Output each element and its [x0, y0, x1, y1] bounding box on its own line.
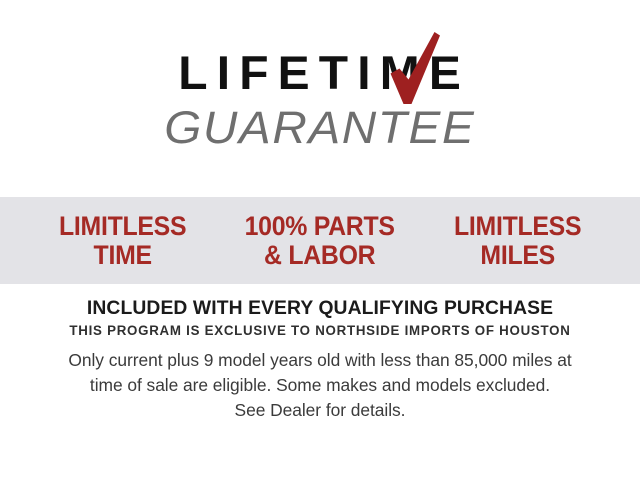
logo-guarantee-wrap: GUARANTEE — [0, 104, 640, 152]
headline-block: INCLUDED WITH EVERY QUALIFYING PURCHASE … — [0, 297, 640, 340]
lifetime-guarantee-ad: LIFETIME GUARANTEE LIMITLESS TIME 100% P… — [0, 0, 640, 480]
fineprint-line-3: See Dealer for details. — [26, 398, 614, 423]
logo-block: LIFETIME GUARANTEE — [0, 48, 640, 158]
benefit-line-2: & LABOR — [229, 241, 411, 270]
fineprint-line-2: time of sale are eligible. Some makes an… — [26, 373, 614, 398]
logo-guarantee-text: GUARANTEE — [164, 104, 475, 152]
logo-lifetime-wrap: LIFETIME — [0, 48, 640, 98]
headline-main: INCLUDED WITH EVERY QUALIFYING PURCHASE — [3, 297, 637, 320]
fineprint-line-1: Only current plus 9 model years old with… — [26, 348, 614, 373]
benefit-line-2: MILES — [427, 241, 609, 270]
benefit-line-1: LIMITLESS — [427, 212, 609, 241]
benefits-band: LIMITLESS TIME 100% PARTS & LABOR LIMITL… — [0, 197, 640, 284]
benefit-parts-and-labor: 100% PARTS & LABOR — [229, 212, 411, 270]
headline-sub: THIS PROGRAM IS EXCLUSIVE TO NORTHSIDE I… — [5, 322, 635, 340]
benefit-line-2: TIME — [32, 241, 214, 270]
benefit-limitless-miles: LIMITLESS MILES — [427, 212, 609, 270]
logo-lifetime-text: LIFETIME — [170, 48, 471, 98]
benefit-line-1: 100% PARTS — [229, 212, 411, 241]
fineprint-block: Only current plus 9 model years old with… — [26, 348, 614, 423]
benefit-limitless-time: LIMITLESS TIME — [32, 212, 214, 270]
benefit-line-1: LIMITLESS — [32, 212, 214, 241]
